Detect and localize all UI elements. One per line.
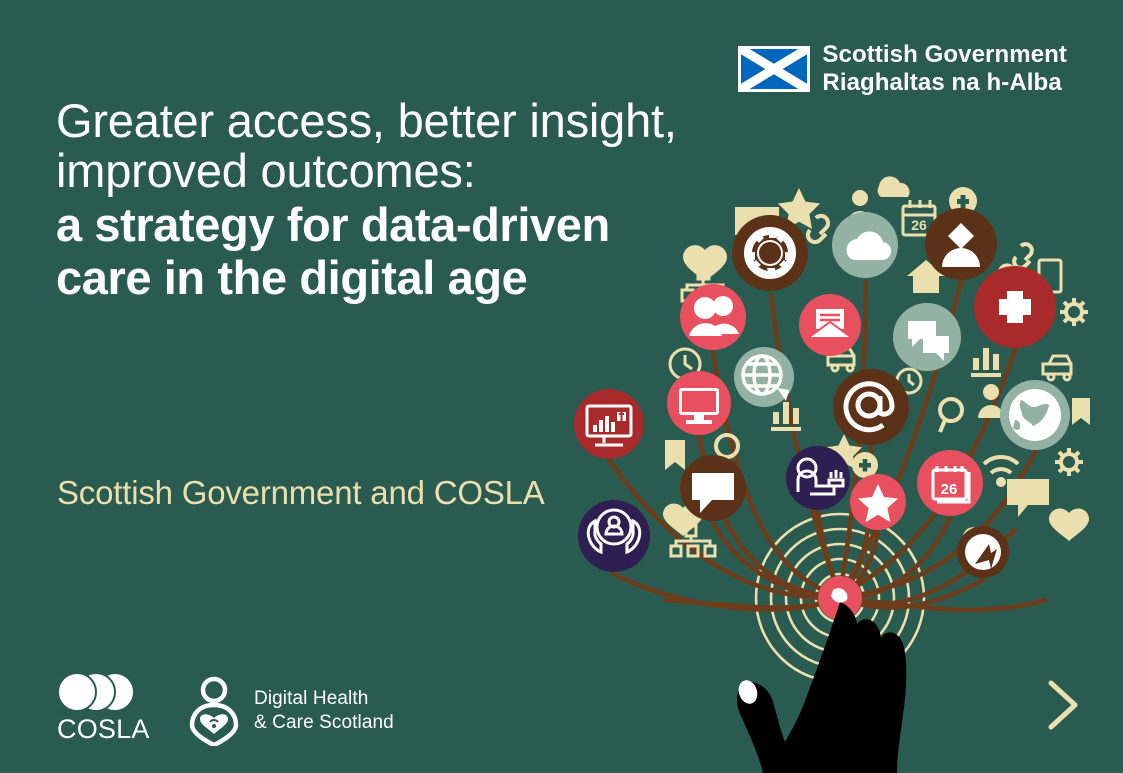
car2-flat-icon	[828, 349, 854, 371]
bubble-person-icon	[925, 208, 997, 280]
saltire-flag-icon	[738, 46, 810, 92]
bar-chart-flat-icon	[771, 402, 801, 431]
calendar-bubble-label: 26	[941, 481, 958, 498]
cloud-flat-icon	[878, 176, 910, 197]
star-flat-icon	[778, 188, 820, 229]
chevron-right-icon[interactable]	[1037, 673, 1085, 737]
person-flat-icon	[847, 190, 873, 224]
bubble-speech-bubble-icon	[680, 455, 746, 521]
bubble-at-sign-icon	[833, 369, 909, 445]
speech-bubble-flat-icon	[735, 207, 779, 248]
car-flat-icon	[1043, 356, 1071, 380]
flat-icons: 26	[663, 176, 1090, 556]
network2-flat-icon	[671, 526, 715, 556]
stems	[609, 282, 1045, 610]
scottish-government-wordmark: Scottish Government Riaghaltas na h-Alba	[822, 41, 1067, 97]
gear-flat-icon	[1060, 298, 1088, 326]
bar-chart2-flat-icon	[971, 348, 1001, 377]
star2-flat-icon	[826, 434, 862, 469]
bubble-arrow-up-right-icon	[957, 526, 1009, 578]
bubble-patient-bed-icon	[786, 446, 850, 510]
calendar-26-flat-icon	[903, 200, 935, 235]
scottish-government-logo: Scottish Government Riaghaltas na h-Alba	[738, 41, 1067, 97]
phone-flat-icon	[1039, 260, 1061, 292]
dhcs-line-1: Digital Health	[254, 688, 368, 709]
sg-line-gaelic: Riaghaltas na h-Alba	[822, 69, 1067, 97]
bubble-cloud-icon	[832, 212, 898, 278]
heart2-flat-icon	[663, 504, 703, 536]
heart3-flat-icon	[1049, 509, 1089, 541]
person-heart-pin-icon	[188, 676, 240, 746]
cloud3-flat-icon	[962, 527, 991, 546]
dhcs-wordmark: Digital Health & Care Scotland	[254, 687, 394, 736]
bubble-star-icon	[850, 474, 906, 530]
clock-flat-icon	[670, 349, 700, 379]
magnifier2-flat-icon	[940, 399, 962, 432]
touch-point-icon	[818, 576, 862, 620]
title-line-1: Greater access, better insight,	[56, 96, 716, 146]
sg-line-english: Scottish Government	[822, 41, 1067, 69]
speech-bubble2-flat-icon	[1007, 479, 1049, 517]
title-line-4: care in the digital age	[56, 253, 716, 303]
bookmark-flat-icon	[665, 440, 685, 470]
bubble-globe-earth-icon	[1000, 380, 1070, 450]
home-flat-icon	[907, 260, 945, 293]
wifi-flat-icon	[984, 457, 1018, 485]
three-circles-icon	[57, 672, 149, 708]
bubble-calendar-26-icon: 26	[917, 450, 983, 516]
bubble-gear-icon	[732, 215, 808, 291]
clock2-flat-icon	[897, 369, 921, 393]
bubble-chat-bubbles-icon	[893, 303, 961, 371]
title-line-2: improved outcomes:	[56, 146, 716, 196]
calendar-flat-label: 26	[911, 217, 927, 233]
cosla-wordmark: COSLA	[57, 714, 149, 745]
subtitle-authors: Scottish Government and COSLA	[57, 474, 545, 512]
cover-page: 26	[0, 0, 1123, 773]
bubble-globe-arrow-icon	[734, 347, 794, 407]
bubble-envelope-icon	[799, 294, 861, 356]
magnifier-flat-icon	[716, 435, 738, 468]
gear2-flat-icon	[1055, 448, 1083, 476]
title-line-3: a strategy for data-driven	[56, 200, 716, 250]
person2-flat-icon	[978, 384, 1004, 418]
digital-health-care-scotland-logo: Digital Health & Care Scotland	[188, 676, 394, 746]
cloud2-flat-icon	[997, 263, 1023, 283]
bubble-medical-cross-icon	[974, 266, 1056, 348]
touch-ripples	[756, 514, 924, 682]
bubble-chart-monitor-icon	[574, 389, 644, 459]
dhcs-line-2: & Care Scotland	[254, 712, 394, 733]
page-title: Greater access, better insight, improved…	[56, 96, 716, 303]
link2-flat-icon	[1014, 244, 1032, 268]
bubble-care-hands-icon	[578, 500, 650, 572]
cosla-logo: COSLA	[57, 672, 149, 745]
link-flat-icon	[808, 216, 828, 242]
bookmark2-flat-icon	[1072, 398, 1090, 425]
plus-circle2-flat-icon	[852, 452, 878, 478]
bubble-monitor-icon	[667, 371, 731, 435]
plus-circle-flat-icon	[949, 187, 977, 215]
pointing-hand-icon	[736, 588, 907, 773]
